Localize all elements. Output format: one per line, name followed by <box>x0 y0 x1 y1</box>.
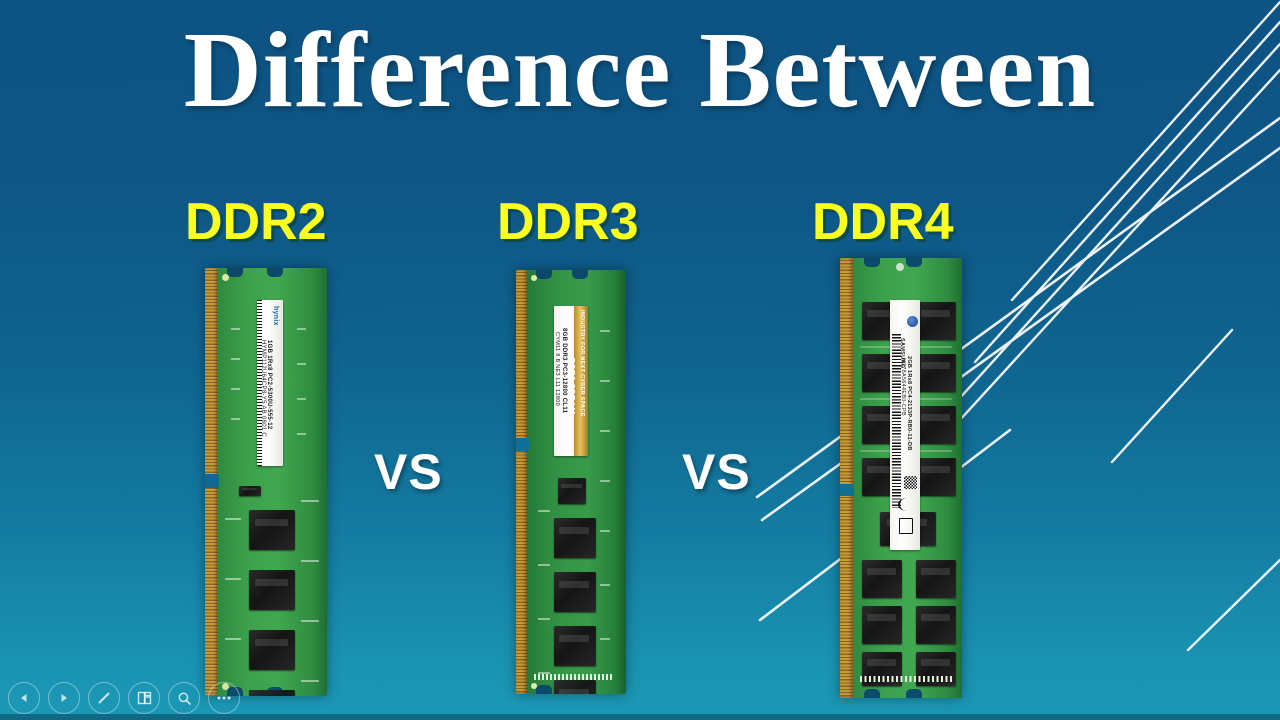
sticker-line-1: 2GB 1Rx8 PC4-2133P-RB0-11-DB <box>906 356 912 451</box>
module-sticker-ddr3: INDUSTRY FOR NEXT CYBER SPACE DDR3 SDRAM… <box>554 306 588 456</box>
silkscreen-mark <box>231 328 240 330</box>
silkscreen-mark <box>600 480 610 482</box>
sticker-line-type: DDR3 SDRAM <box>567 358 576 414</box>
sticker-line-2: HYMP112U64CP8-Y5 AB 0801 C <box>260 340 266 437</box>
ram-module-ddr4: SAMSUNG 2GB 1Rx8 PC4-2133P-RB0-11-DB M37… <box>840 258 962 698</box>
samsung-logo-mark <box>907 316 918 327</box>
sticker-line-spec: 8GB DDR3 PC3-12800 CL11 <box>561 328 567 413</box>
sticker-brand: hynix <box>272 306 279 326</box>
vs-separator-1: VS <box>374 443 443 501</box>
spd-chip <box>558 478 586 504</box>
silkscreen-mark <box>600 330 610 332</box>
module-ear-top-left <box>227 268 243 277</box>
sticker-line-2: M378A5644EB0-CPB <box>900 358 906 416</box>
gold-contact-pins <box>516 270 527 694</box>
memory-chip <box>554 626 596 666</box>
back-arrow-icon <box>18 692 30 704</box>
gold-contact-pins <box>840 258 853 698</box>
silkscreen-mark <box>600 380 610 382</box>
label-ddr4: DDR4 <box>812 192 954 252</box>
more-button[interactable] <box>208 682 240 714</box>
silkscreen-mark <box>301 560 319 562</box>
module-ear-top-left <box>536 270 552 279</box>
silkscreen-mark <box>538 564 550 566</box>
memory-chip <box>916 354 956 392</box>
vs-separator-2: VS <box>682 443 751 501</box>
silkscreen-mark <box>231 418 240 420</box>
silkscreen-mark <box>600 530 610 532</box>
silkscreen-mark <box>297 363 306 365</box>
silkscreen-mark <box>301 620 319 622</box>
label-ddr3: DDR3 <box>497 192 639 252</box>
memory-chip <box>249 630 295 670</box>
qr-code <box>904 476 917 489</box>
page-title: Difference Between <box>0 14 1280 127</box>
memory-chip <box>916 560 956 598</box>
sticker-line-header: INDUSTRY FOR NEXT CYBER SPACE <box>579 310 585 417</box>
corner-pad <box>222 274 229 281</box>
silkscreen-mark <box>860 346 952 348</box>
memory-chip <box>862 560 902 598</box>
layers-icon <box>137 691 152 706</box>
silkscreen-mark <box>231 388 240 390</box>
module-ear-top-right <box>267 268 283 277</box>
next-button[interactable] <box>48 682 80 714</box>
silkscreen-mark <box>600 430 610 432</box>
memory-chip <box>554 572 596 612</box>
silkscreen-mark <box>538 618 550 620</box>
more-dots-icon <box>216 695 232 701</box>
slide-canvas: Difference Between DDR2 DDR3 DDR4 VS VS … <box>0 0 1280 720</box>
sticker-line-part: CYM11 8 B NE3 L11 12800 <box>554 332 560 406</box>
silkscreen-mark <box>297 328 306 330</box>
silkscreen-mark <box>860 450 952 452</box>
memory-chip <box>916 302 956 340</box>
silkscreen-mark <box>225 518 241 520</box>
weee-bin-icon <box>899 518 913 534</box>
module-sticker-ddr4: SAMSUNG 2GB 1Rx8 PC4-2133P-RB0-11-DB M37… <box>890 300 920 550</box>
label-ddr2: DDR2 <box>185 192 327 252</box>
module-ear-top-right <box>906 258 922 267</box>
silkscreen-mark <box>600 584 610 586</box>
layers-button[interactable] <box>128 682 160 714</box>
module-ear-top-left <box>864 258 880 267</box>
memory-chip <box>249 510 295 550</box>
memory-chip <box>249 570 295 610</box>
magnifier-icon <box>177 691 192 706</box>
bottom-edge-bar <box>0 714 1280 720</box>
zoom-button[interactable] <box>168 682 200 714</box>
silkscreen-mark <box>231 358 240 360</box>
module-key-notch <box>840 484 854 496</box>
pen-icon <box>96 690 112 706</box>
silkscreen-mark <box>860 398 952 400</box>
ram-module-ddr2: hynix 1GB 1Rx8 PC2-5300U-555-12 HYMP112U… <box>205 268 327 696</box>
memory-chip <box>916 606 956 644</box>
silkscreen-mark <box>297 433 306 435</box>
ram-module-ddr3: INDUSTRY FOR NEXT CYBER SPACE DDR3 SDRAM… <box>516 270 626 694</box>
register-chip <box>239 486 261 496</box>
memory-chip <box>554 518 596 558</box>
pen-button[interactable] <box>88 682 120 714</box>
ce-mark-icon <box>898 498 916 511</box>
memory-chip <box>916 458 956 496</box>
center-screw-pad <box>896 263 904 271</box>
module-sticker-ddr2: hynix 1GB 1Rx8 PC2-5300U-555-12 HYMP112U… <box>257 300 283 466</box>
silkscreen-mark <box>225 578 241 580</box>
memory-chip <box>916 406 956 444</box>
module-key-notch <box>205 474 219 488</box>
silkscreen-mark <box>600 638 610 640</box>
previous-button[interactable] <box>8 682 40 714</box>
module-key-notch <box>516 438 529 451</box>
module-ear-top-right <box>572 270 588 279</box>
silkscreen-mark <box>297 398 306 400</box>
sticker-line-1: 1GB 1Rx8 PC2-5300U-555-12 <box>266 340 272 430</box>
memory-chip <box>862 606 902 644</box>
silkscreen-mark <box>538 510 550 512</box>
corner-pad <box>531 275 537 281</box>
forward-arrow-icon <box>58 692 70 704</box>
silkscreen-mark <box>225 638 241 640</box>
silkscreen-mark <box>301 500 319 502</box>
